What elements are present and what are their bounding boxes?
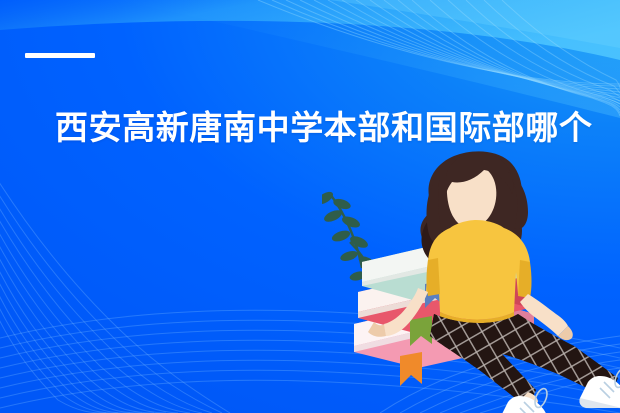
orange-bookmark [400, 352, 422, 386]
student-sitting-on-books-illustration [322, 146, 620, 413]
page-title: 西安高新唐南中学本部和国际部哪个 [55, 108, 615, 148]
promo-banner: 西安高新唐南中学本部和国际部哪个 [0, 0, 620, 413]
accent-rule [25, 53, 95, 58]
